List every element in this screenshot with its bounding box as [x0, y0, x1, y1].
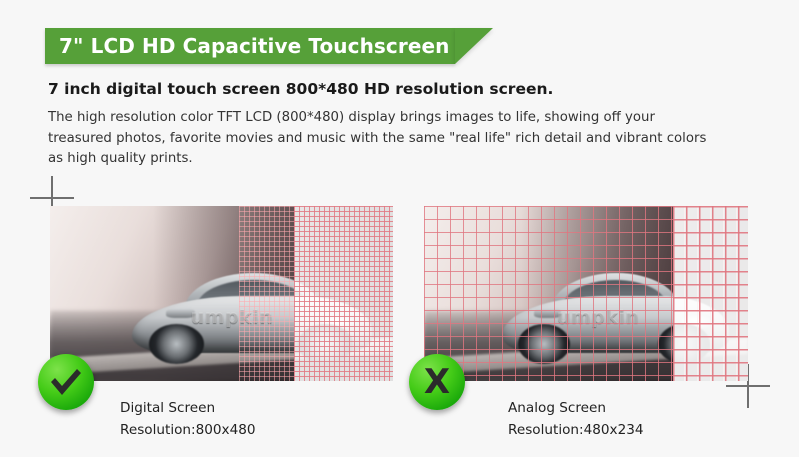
digital-screen-image: umpkin	[50, 206, 393, 381]
product-description-page: 7" LCD HD Capacitive Touchscreen 7 inch …	[0, 0, 799, 457]
car-rear-wheel	[149, 324, 204, 364]
checkmark-badge	[38, 354, 94, 410]
car-side-mirror	[166, 308, 195, 318]
caption-resolution-digital: Resolution:800x480	[120, 420, 256, 442]
analog-screen-image: umpkin	[424, 206, 748, 381]
check-icon	[49, 367, 83, 397]
fine-pixel-grid-swatch	[294, 206, 393, 381]
section-banner: 7" LCD HD Capacitive Touchscreen	[45, 28, 455, 64]
caption-title-digital: Digital Screen	[120, 398, 256, 420]
caption-resolution-analog: Resolution:480x234	[508, 420, 644, 442]
analog-screen-caption: Analog Screen Resolution:480x234	[508, 398, 644, 442]
lead-text: 7 inch digital touch screen 800*480 HD r…	[48, 80, 553, 98]
coarse-pixel-grid-swatch	[673, 206, 748, 381]
description-paragraph: The high resolution color TFT LCD (800*4…	[48, 108, 708, 170]
digital-screen-caption: Digital Screen Resolution:800x480	[120, 398, 256, 442]
caption-title-analog: Analog Screen	[508, 398, 644, 420]
page-title: 7" LCD HD Capacitive Touchscreen	[45, 34, 450, 58]
fine-pixel-grid-overlay	[239, 206, 294, 381]
banner-arrow-tip	[455, 28, 493, 64]
x-icon: X	[424, 365, 450, 399]
cross-badge: X	[409, 354, 465, 410]
